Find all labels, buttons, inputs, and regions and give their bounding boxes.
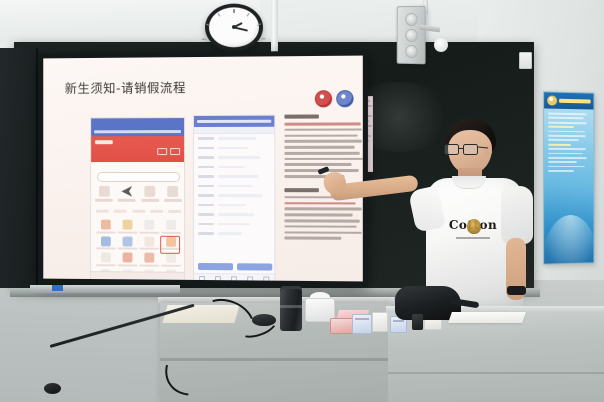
school-seal-red-icon bbox=[315, 90, 332, 107]
wall-speaker bbox=[397, 6, 426, 65]
display-sticker bbox=[52, 285, 63, 291]
poster-header-text bbox=[559, 99, 590, 104]
microphone-head bbox=[44, 383, 61, 394]
app-search-field[interactable] bbox=[97, 172, 180, 182]
form-row bbox=[198, 232, 270, 235]
supply-box-blue-1 bbox=[352, 314, 372, 334]
form-row bbox=[198, 137, 270, 140]
form-tab-bar bbox=[194, 273, 274, 281]
app-quick-actions bbox=[95, 186, 182, 202]
display-screen[interactable]: 新生须知-请销假流程 bbox=[43, 56, 363, 282]
instructions-heading-1 bbox=[284, 114, 318, 118]
form-action-buttons bbox=[198, 263, 272, 271]
supply-box-red bbox=[330, 318, 354, 334]
instructions-heading-2 bbox=[284, 188, 318, 192]
form-row bbox=[198, 146, 270, 149]
form-row bbox=[198, 203, 270, 206]
form-nav-bar bbox=[194, 116, 274, 127]
app-hero-banner bbox=[91, 136, 184, 162]
tshirt-graphic: Cotton bbox=[444, 218, 502, 244]
form-row bbox=[198, 156, 270, 159]
form-row bbox=[198, 194, 270, 197]
slide-panel-app-home bbox=[90, 117, 185, 281]
thermos-band bbox=[280, 305, 302, 308]
slide-logos bbox=[315, 90, 354, 107]
supply-box-white-1 bbox=[372, 312, 388, 332]
paper-plane-icon bbox=[121, 186, 132, 197]
thermos-flask bbox=[280, 289, 302, 331]
slide-panel-leave-form bbox=[193, 115, 275, 282]
form-row bbox=[198, 175, 270, 178]
tshirt-subtext bbox=[456, 237, 490, 239]
mobile-phone bbox=[412, 314, 423, 330]
poster-header bbox=[544, 92, 593, 109]
front-desk-seam bbox=[388, 372, 604, 374]
tshirt-emblem-icon bbox=[467, 219, 481, 234]
app-category-tabs bbox=[96, 210, 181, 213]
presenter-right-sleeve bbox=[501, 186, 533, 244]
form-row bbox=[198, 222, 270, 225]
clock-center bbox=[232, 25, 236, 29]
glasses-icon bbox=[444, 144, 480, 155]
paper-stack bbox=[448, 312, 526, 323]
poster-seal-icon bbox=[547, 95, 557, 105]
poster-body bbox=[544, 108, 593, 171]
wall-pipe bbox=[271, 0, 278, 52]
form-cancel-button bbox=[198, 263, 233, 270]
form-submit-button bbox=[237, 263, 272, 270]
poster-wave-graphic bbox=[543, 215, 594, 265]
slide-title: 新生须知-请销假流程 bbox=[65, 77, 186, 97]
form-row bbox=[198, 184, 270, 187]
highlight-box bbox=[160, 236, 180, 254]
wristwatch bbox=[507, 286, 526, 295]
form-row bbox=[198, 213, 270, 216]
classroom-scene: 新生须知-请销假流程 bbox=[0, 0, 604, 402]
app-bottom-bar bbox=[91, 271, 184, 281]
form-rows bbox=[194, 134, 274, 238]
school-seal-blue-icon bbox=[336, 90, 353, 107]
ceiling-light-bulb bbox=[434, 38, 448, 52]
sliding-board-panel[interactable] bbox=[0, 48, 38, 288]
information-poster bbox=[543, 91, 594, 264]
wall-switch-panel[interactable] bbox=[519, 52, 532, 69]
form-row bbox=[198, 165, 270, 168]
app-nav-bar bbox=[91, 126, 184, 136]
wall-clock bbox=[204, 4, 263, 52]
